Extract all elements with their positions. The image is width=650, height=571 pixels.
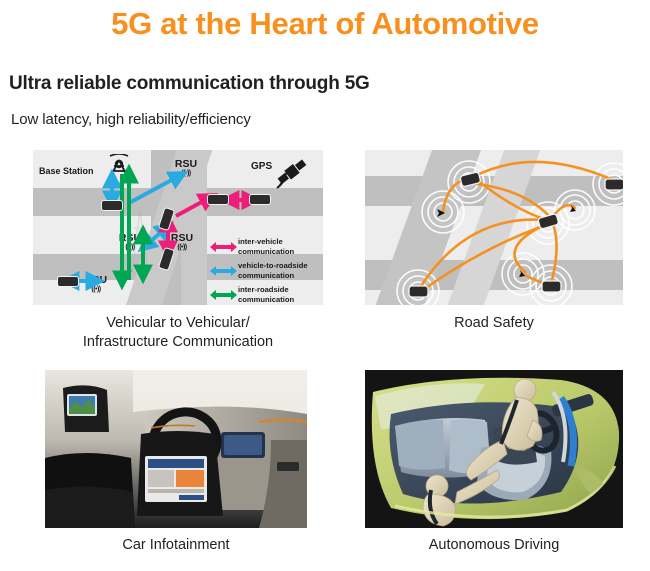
section-subtitle: Ultra reliable communication through 5G [9, 73, 370, 95]
legend-label: vehicle-to-roadside communication [238, 261, 308, 280]
road-safety-graphics [365, 150, 623, 305]
car-icon [207, 194, 229, 205]
autonomous-driving-photo [365, 370, 623, 528]
vehicle-to-roadside-arrow-icon [215, 269, 232, 273]
car-icon [57, 276, 79, 287]
car-icon [101, 200, 123, 211]
v2v-diagram: Base Station GPS RSU ((•)) RSU ((•)) [33, 150, 323, 305]
caption-autonomous-driving: Autonomous Driving [365, 536, 623, 555]
car-infotainment-photo [45, 370, 307, 528]
slide-root: 5G at the Heart of Automotive Ultra reli… [0, 0, 650, 571]
caption-car-infotainment: Car Infotainment [45, 536, 307, 555]
road-safety-diagram [365, 150, 623, 305]
legend-item-inter-roadside: inter-roadside communication [215, 286, 321, 305]
v2v-legend: inter-vehicle communication vehicle-to-r… [215, 238, 321, 305]
legend-item-inter-vehicle: inter-vehicle communication [215, 238, 321, 260]
legend-label: inter-vehicle communication [238, 237, 294, 256]
legend-item-vehicle-to-roadside: vehicle-to-roadside communication [215, 262, 321, 284]
section-tagline: Low latency, high reliability/efficiency [11, 111, 251, 128]
inter-vehicle-arrow-icon [215, 245, 232, 249]
caption-road-safety: Road Safety [365, 314, 623, 333]
caption-v2v: Vehicular to Vehicular/ Infrastructure C… [33, 314, 323, 352]
inter-roadside-arrow-icon [215, 293, 232, 297]
page-title: 5G at the Heart of Automotive [0, 6, 650, 42]
car-icon [249, 194, 271, 205]
legend-label: inter-roadside communication [238, 285, 294, 304]
